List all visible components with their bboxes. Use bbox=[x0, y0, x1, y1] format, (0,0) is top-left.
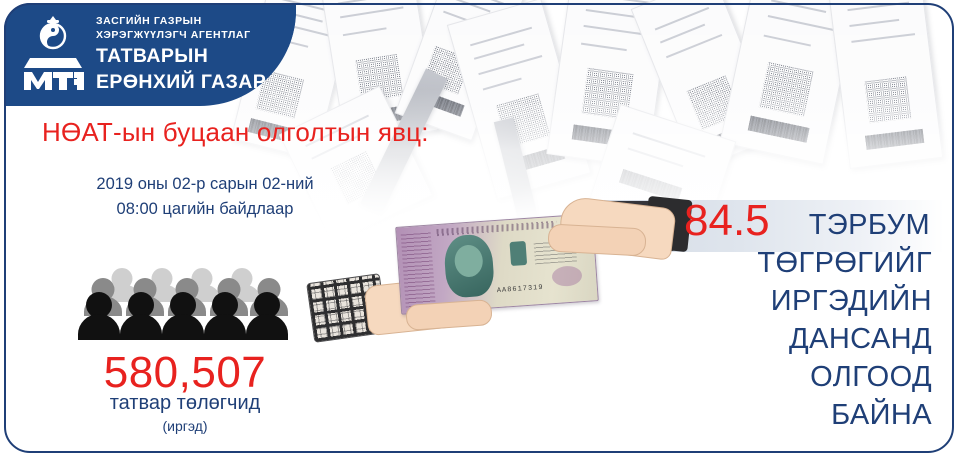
date-line-2: 08:00 цагийн байдлаар bbox=[70, 197, 340, 222]
page-title: НӨАТ-ын буцаан олголтын явц: bbox=[42, 117, 429, 148]
banknote-portrait bbox=[443, 233, 495, 298]
taxpayer-count-label: татвар төлөгчид bbox=[40, 392, 330, 415]
banknote-guilloche bbox=[401, 232, 436, 308]
refund-text-line-6: БАЙНА bbox=[560, 396, 932, 434]
agency-title-block: ЗАСГИЙН ГАЗРЫН ХЭРЭГЖҮҮЛЭГЧ АГЕНТЛАГ ТАТ… bbox=[96, 14, 266, 94]
org-line-1: ТАТВАРЫН bbox=[96, 45, 266, 68]
person-icon bbox=[162, 292, 204, 340]
banknote-emblem bbox=[510, 241, 528, 266]
refund-text-line-3: ИРГЭДИЙН bbox=[560, 282, 932, 320]
as-of-date-block: 2019 оны 02-р сарын 02-ний 08:00 цагийн … bbox=[70, 172, 340, 222]
crowd-of-people-icons bbox=[78, 268, 288, 348]
person-icon bbox=[246, 292, 288, 340]
refund-text-line-4: ДАНСАНД bbox=[560, 320, 932, 358]
refund-text-line-1: ТЭРБУМ bbox=[560, 206, 932, 244]
org-line-2: ЕРӨНХИЙ ГАЗАР bbox=[96, 71, 266, 94]
date-line-1: 2019 оны 02-р сарын 02-ний bbox=[70, 172, 340, 197]
person-icon bbox=[204, 292, 246, 340]
mta-logo bbox=[16, 12, 90, 92]
taxpayer-count-sublabel: (иргэд) bbox=[40, 418, 330, 434]
taxpayer-count-value: 580,507 bbox=[40, 348, 330, 398]
person-icon bbox=[120, 292, 162, 340]
banknote-serial-number: AA8617319 bbox=[497, 284, 544, 295]
banknote-top-pattern bbox=[436, 221, 556, 236]
person-icon bbox=[78, 292, 120, 340]
agency-line-2: ХЭРЭГЖҮҮЛЭГЧ АГЕНТЛАГ bbox=[96, 28, 266, 42]
agency-line-1: ЗАСГИЙН ГАЗРЫН bbox=[96, 14, 266, 28]
refund-text-line-2: ТӨГРӨГИЙГ bbox=[560, 244, 932, 282]
vat-refund-infographic: ЗАСГИЙН ГАЗРЫН ХЭРЭГЖҮҮЛЭГЧ АГЕНТЛАГ ТАТ… bbox=[0, 0, 960, 459]
refund-statement-text: ТЭРБУМ ТӨГРӨГИЙГ ИРГЭДИЙН ДАНСАНД ОЛГООД… bbox=[560, 206, 932, 434]
refund-text-line-5: ОЛГООД bbox=[560, 358, 932, 396]
giving-hand-fingers bbox=[405, 299, 493, 331]
